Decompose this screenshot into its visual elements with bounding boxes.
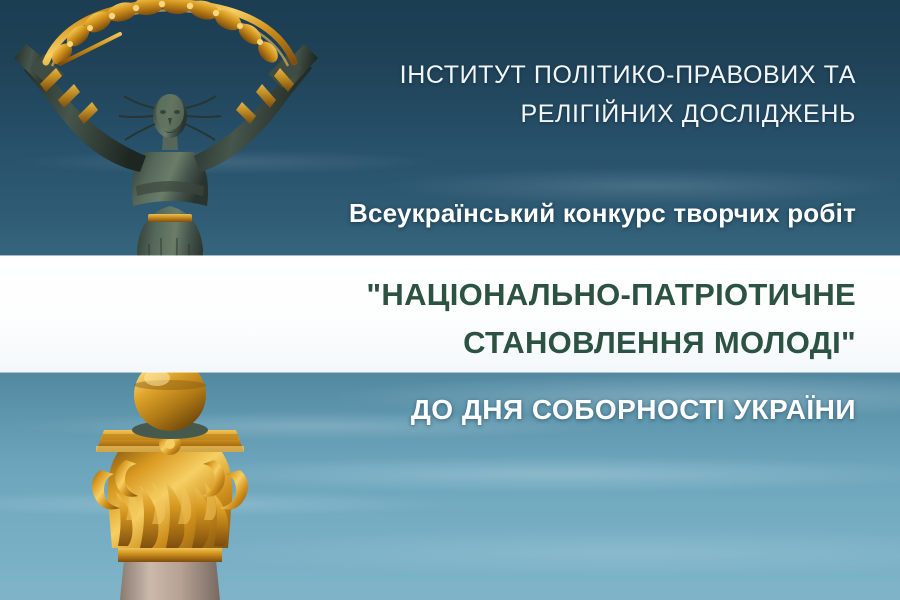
text-layer: ІНСТИТУТ ПОЛІТИКО-ПРАВОВИХ ТА РЕЛІГІЙНИХ… [0, 0, 900, 600]
organization-name: ІНСТИТУТ ПОЛІТИКО-ПРАВОВИХ ТА РЕЛІГІЙНИХ… [236, 56, 856, 134]
poster-canvas: ІНСТИТУТ ПОЛІТИКО-ПРАВОВИХ ТА РЕЛІГІЙНИХ… [0, 0, 900, 600]
contest-title-line-1: "НАЦІОНАЛЬНО-ПАТРІОТИЧНЕ [176, 271, 856, 319]
occasion-label: ДО ДНЯ СОБОРНОСТІ УКРАЇНИ [176, 394, 856, 426]
organization-line-2: РЕЛІГІЙНИХ ДОСЛІДЖЕНЬ [236, 95, 856, 134]
contest-label: Всеукраїнський конкурс творчих робіт [176, 198, 856, 229]
organization-line-1: ІНСТИТУТ ПОЛІТИКО-ПРАВОВИХ ТА [236, 56, 856, 95]
contest-title-line-2: СТАНОВЛЕННЯ МОЛОДІ" [176, 319, 856, 367]
contest-title: "НАЦІОНАЛЬНО-ПАТРІОТИЧНЕ СТАНОВЛЕННЯ МОЛ… [176, 271, 856, 367]
